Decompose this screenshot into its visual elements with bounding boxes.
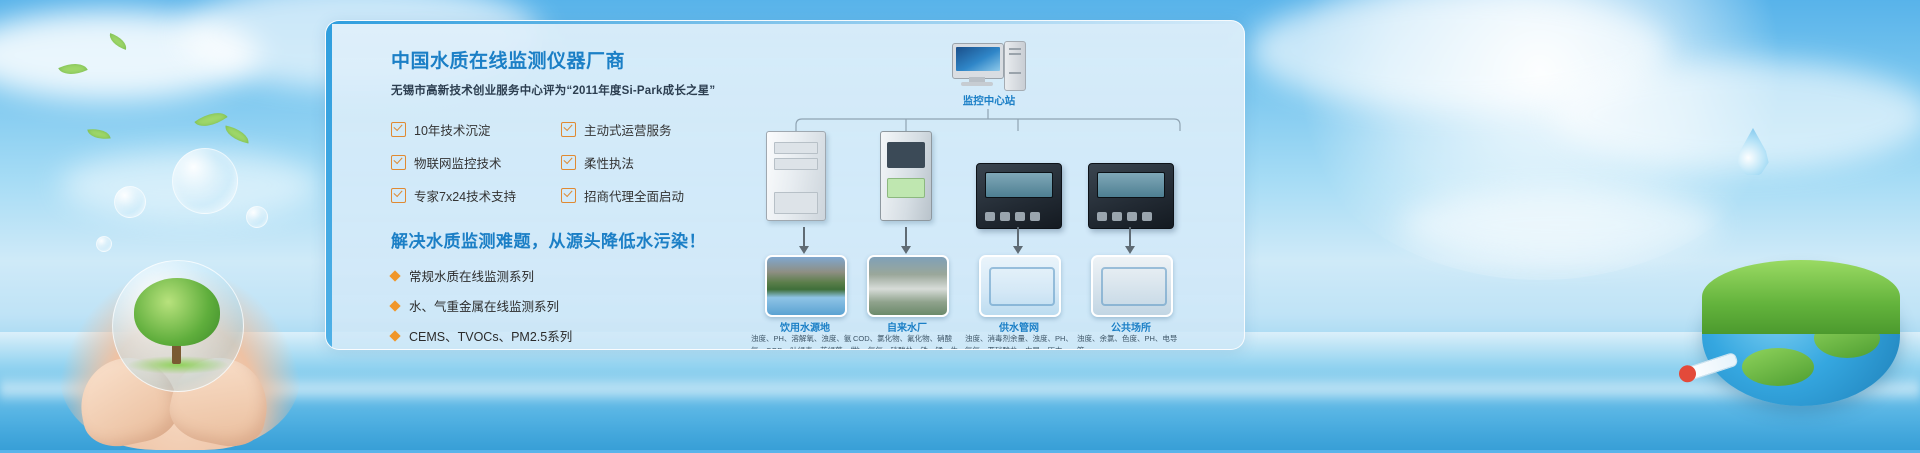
- bubble-decoration: [96, 236, 112, 252]
- scene-params: 浊度、PH、溶解氧、浊度、氨氮、COD、叶绿素、蓝绿藻、生物毒性等。: [751, 333, 859, 350]
- leaf-icon: [194, 105, 227, 134]
- scene-params: COD、氯化物、氟化物、硝酸盐、氨氮、硝酸盐、铁、锰、生物毒性等。: [853, 333, 961, 350]
- feature-list: 10年技术沉淀 主动式运营服务 物联网监控技术 柔性执法 专家7x24技术支持 …: [391, 120, 741, 205]
- feature-item: 物联网监控技术: [391, 153, 561, 172]
- banner-subtitle: 无锡市高新技术创业服务中心评为“2011年度Si-Park成长之星”: [391, 82, 741, 98]
- device-node: [1082, 149, 1178, 239]
- checkbox-icon: [391, 188, 406, 203]
- flow-arrow-icon: [803, 227, 805, 247]
- earth-green-cap: [1702, 260, 1900, 334]
- computer-tower-icon: [1004, 41, 1026, 91]
- public-place-tap-photo: [1091, 255, 1173, 317]
- earth-landmass: [1742, 348, 1814, 386]
- scene-params: 浊度、余氯、色度、PH、电导等。: [1077, 333, 1185, 350]
- feature-label: 招商代理全面启动: [584, 186, 684, 205]
- scene-title: 自来水厂: [847, 319, 967, 334]
- panel-controller-icon: [976, 163, 1062, 229]
- feature-label: 10年技术沉淀: [414, 120, 490, 139]
- feature-label: 主动式运营服务: [584, 120, 672, 139]
- checkbox-icon: [561, 122, 576, 137]
- desktop-computer-icon: [952, 43, 1026, 89]
- list-item: 水、气重金属在线监测系列: [391, 296, 741, 315]
- bubble-decoration: [246, 206, 268, 228]
- device-node: [858, 131, 954, 221]
- sun-glow: [1280, 0, 1800, 280]
- cloud-decoration: [0, 10, 260, 100]
- feature-item: 柔性执法: [561, 153, 731, 172]
- list-item: 常规水质在线监测系列: [391, 266, 741, 285]
- product-line-label: 常规水质在线监测系列: [409, 266, 534, 285]
- feature-label: 物联网监控技术: [414, 153, 502, 172]
- flow-arrow-icon: [1017, 227, 1019, 247]
- cabinet-analyzer-icon: [766, 131, 826, 221]
- scene-params: 浊度、消毒剂余量、浊度、PH、氨氮、亚硝酸盐、电导、压力、流量等。: [965, 333, 1073, 350]
- diamond-bullet-icon: [389, 300, 400, 311]
- feature-item: 10年技术沉淀: [391, 120, 561, 139]
- banner-left-column: 中国水质在线监测仪器厂商 无锡市高新技术创业服务中心评为“2011年度Si-Pa…: [391, 46, 741, 350]
- leaf-icon: [107, 33, 129, 50]
- tree-canopy-icon: [134, 278, 220, 346]
- panel-controller-icon: [1088, 163, 1174, 229]
- feature-label: 专家7x24技术支持: [414, 186, 516, 205]
- leaf-icon: [58, 57, 87, 81]
- monitoring-center-label: 监控中心站: [916, 93, 1062, 108]
- page-title: 中国水质在线监测仪器厂商: [391, 46, 741, 73]
- river-water-source-photo: [765, 255, 847, 317]
- checkbox-icon: [391, 122, 406, 137]
- product-line-label: 水、气重金属在线监测系列: [409, 296, 559, 315]
- list-item: CEMS、TVOCs、PM2.5系列: [391, 326, 741, 345]
- monitor-icon: [952, 43, 1004, 79]
- diamond-bullet-icon: [389, 270, 400, 281]
- section-subtitle: 解决水质监测难题，从源头降低水污染！: [391, 227, 741, 252]
- feature-item: 招商代理全面启动: [561, 186, 731, 205]
- scene-title: 公共场所: [1071, 319, 1191, 334]
- feature-label: 柔性执法: [584, 153, 634, 172]
- product-line-label: CEMS、TVOCs、PM2.5系列: [409, 326, 572, 345]
- checkbox-icon: [561, 155, 576, 170]
- checkbox-icon: [391, 155, 406, 170]
- bubble-decoration: [172, 148, 238, 214]
- flow-arrow-icon: [905, 227, 907, 247]
- leaf-icon: [223, 125, 251, 143]
- monitor-screen: [956, 47, 1000, 71]
- flow-arrow-icon: [1129, 227, 1131, 247]
- leaf-icon: [87, 127, 110, 142]
- product-line-list: 常规水质在线监测系列 水、气重金属在线监测系列 CEMS、TVOCs、PM2.5…: [391, 266, 741, 350]
- water-treatment-plant-photo: [867, 255, 949, 317]
- feature-item: 主动式运营服务: [561, 120, 731, 139]
- rack-analyzer-icon: [880, 131, 932, 221]
- bubble-decoration: [114, 186, 146, 218]
- feature-item: 专家7x24技术支持: [391, 186, 561, 205]
- diamond-bullet-icon: [389, 330, 400, 341]
- scene-title: 供水管网: [959, 319, 1079, 334]
- system-topology-diagram: 监控中心站: [756, 31, 1226, 346]
- checkbox-icon: [561, 188, 576, 203]
- banner-panel: 中国水质在线监测仪器厂商 无锡市高新技术创业服务中心评为“2011年度Si-Pa…: [325, 20, 1245, 350]
- monitor-base: [961, 82, 993, 86]
- water-supply-network-photo: [979, 255, 1061, 317]
- device-node: [970, 149, 1066, 239]
- device-node: [748, 131, 844, 221]
